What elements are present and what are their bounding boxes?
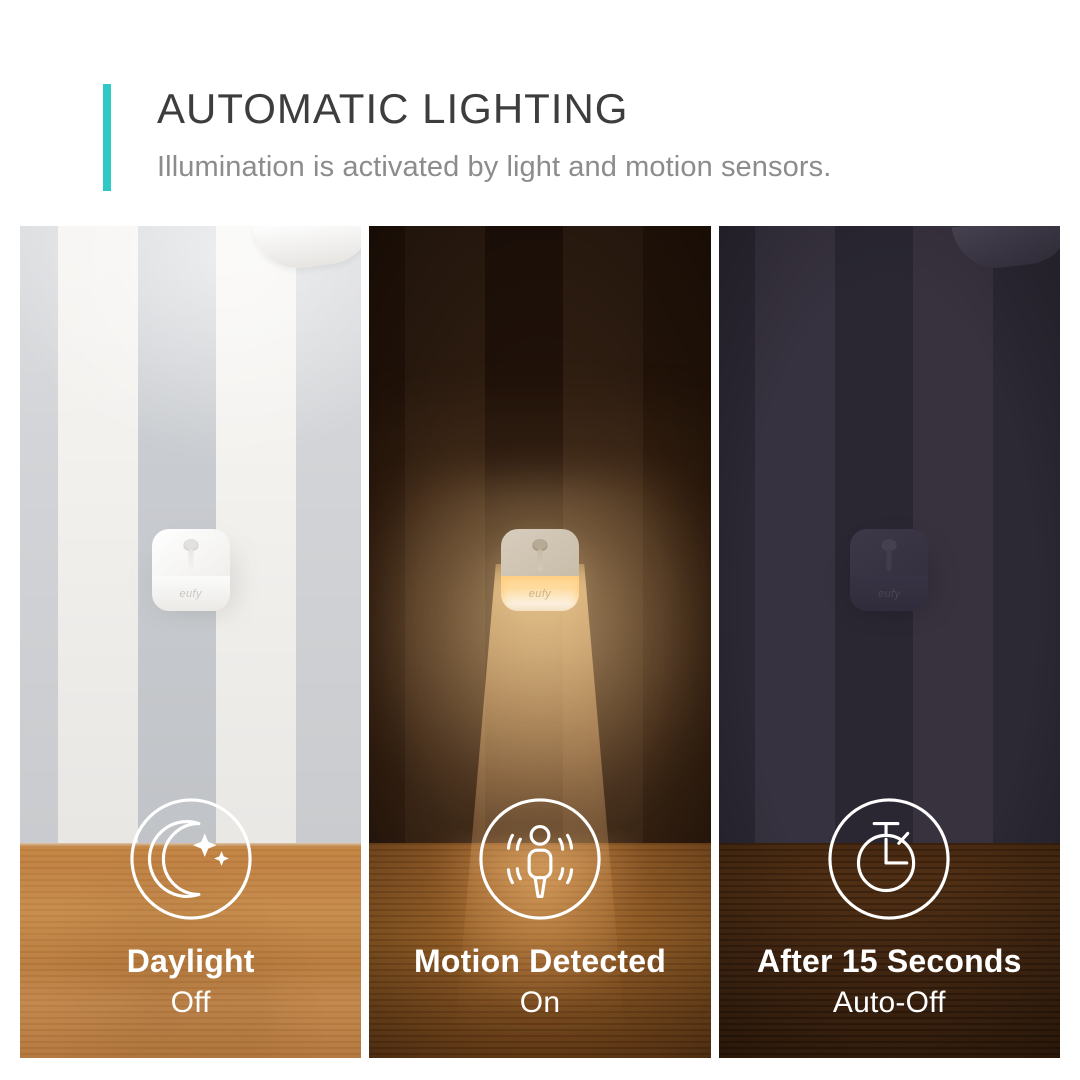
caption-motion-detected: Motion Detected On — [369, 796, 710, 1022]
header-section: AUTOMATIC LIGHTING Illumination is activ… — [0, 0, 1080, 226]
panel-after-15-seconds: eufy After 15 Seconds Auto-Off — [719, 226, 1060, 1058]
moon-sparkles-icon — [128, 796, 254, 922]
accent-bar — [103, 84, 111, 191]
motion-sensor-person-icon — [477, 796, 603, 922]
sensor-stem — [188, 549, 193, 571]
stopwatch-timer-icon — [826, 796, 952, 922]
caption-subtitle: On — [369, 984, 710, 1022]
panel-motion-detected: eufy Motion Detected On — [369, 226, 710, 1058]
caption-title: After 15 Seconds — [719, 942, 1060, 980]
caption-title: Daylight — [20, 942, 361, 980]
night-light-device: eufy — [152, 529, 230, 611]
caption-title: Motion Detected — [369, 942, 710, 980]
caption-after-15-seconds: After 15 Seconds Auto-Off — [719, 796, 1060, 1022]
caption-subtitle: Off — [20, 984, 361, 1022]
device-upper-housing — [152, 529, 230, 576]
panel-row: eufy Daylight Off — [20, 226, 1060, 1058]
page-title: AUTOMATIC LIGHTING — [157, 84, 628, 134]
caption-subtitle: Auto-Off — [719, 984, 1060, 1022]
panel-daylight: eufy Daylight Off — [20, 226, 361, 1058]
caption-daylight: Daylight Off — [20, 796, 361, 1022]
device-brand-label: eufy — [152, 588, 230, 600]
page-subtitle: Illumination is activated by light and m… — [157, 148, 831, 186]
